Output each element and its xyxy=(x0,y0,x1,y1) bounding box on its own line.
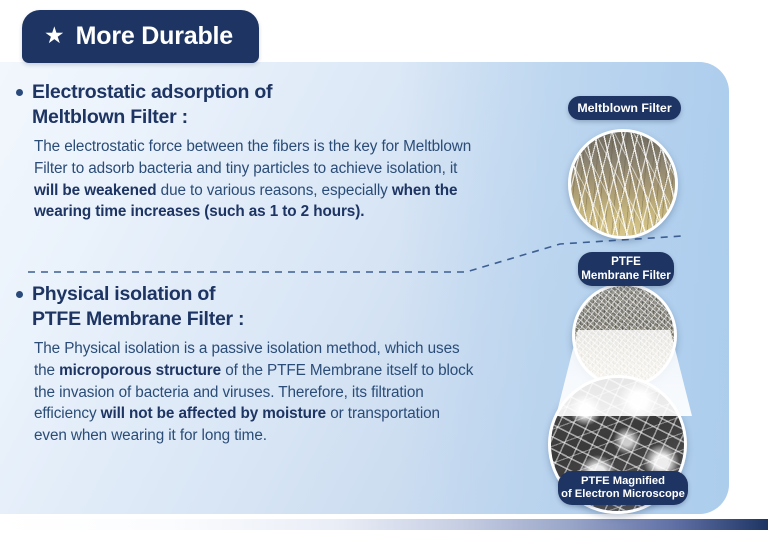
bullet-icon xyxy=(16,291,23,298)
figure-label-meltblown: Meltblown Filter xyxy=(568,96,681,120)
text-column: Electrostatic adsorption of Meltblown Fi… xyxy=(16,20,488,447)
ptfe-membrane-texture xyxy=(575,286,674,385)
section-badge-label: More Durable xyxy=(76,22,233,51)
section-body: The electrostatic force between the fibe… xyxy=(34,136,474,223)
section-badge: ★ More Durable xyxy=(22,10,259,63)
star-icon: ★ xyxy=(44,24,65,47)
section-heading-label: Electrostatic adsorption of Meltblown Fi… xyxy=(32,80,272,129)
section-body: The Physical isolation is a passive isol… xyxy=(34,338,474,447)
section-electrostatic: Electrostatic adsorption of Meltblown Fi… xyxy=(16,80,488,223)
bullet-icon xyxy=(16,89,23,96)
section-physical: Physical isolation of PTFE Membrane Filt… xyxy=(16,282,488,447)
bottom-gradient-bar xyxy=(0,519,768,530)
figure-label-ptfe-magnified: PTFE Magnified of Electron Microscope xyxy=(558,471,688,505)
ptfe-membrane-micrograph-image xyxy=(572,283,677,388)
meltblown-texture xyxy=(571,132,675,236)
section-heading-label: Physical isolation of PTFE Membrane Filt… xyxy=(32,282,244,331)
slide-root: ★ More Durable Electrostatic adsorption … xyxy=(0,0,768,536)
section-heading: Physical isolation of PTFE Membrane Filt… xyxy=(16,282,488,331)
section-heading: Electrostatic adsorption of Meltblown Fi… xyxy=(16,80,488,129)
meltblown-micrograph-image xyxy=(568,129,678,239)
figure-label-ptfe-membrane: PTFE Membrane Filter xyxy=(578,252,674,286)
